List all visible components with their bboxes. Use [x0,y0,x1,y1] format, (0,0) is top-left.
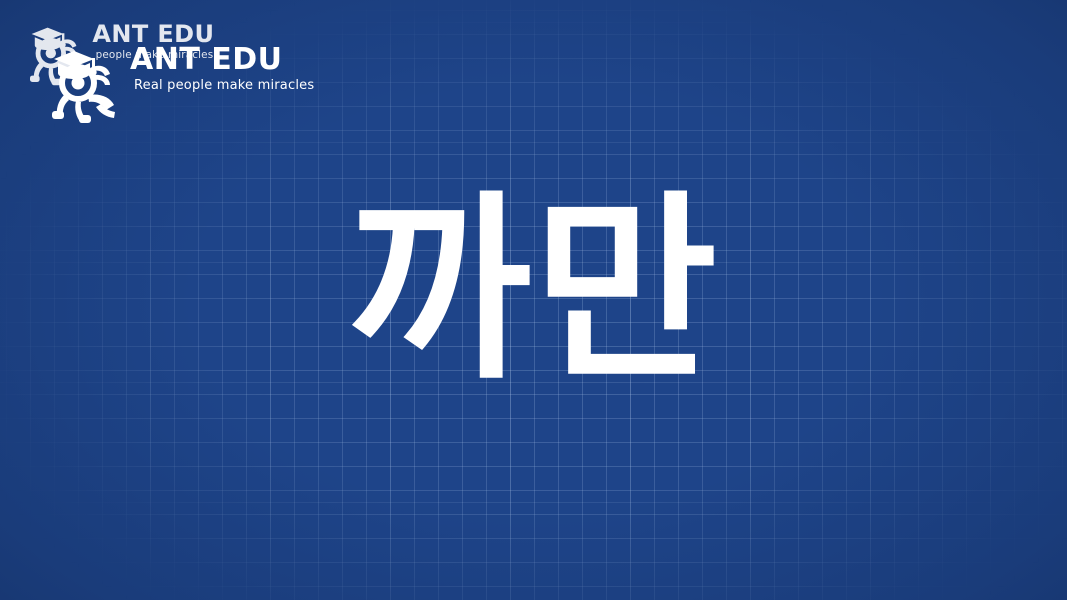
korean-headline: 까만 [347,191,719,391]
headline-container: 까만 [0,0,1067,600]
slide-canvas: ANT EDU people make miracles [0,0,1067,600]
